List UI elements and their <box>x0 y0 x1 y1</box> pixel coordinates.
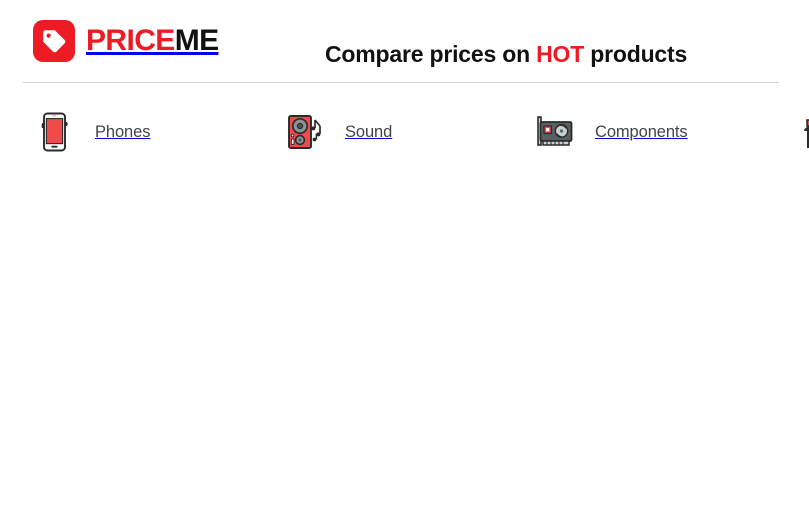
category-label: Phones <box>95 123 150 142</box>
category-label: Components <box>595 123 688 142</box>
page-title: Compare prices on HOT products <box>325 41 687 68</box>
header-divider <box>23 82 779 83</box>
page-header: PRICEME Compare prices on HOT products <box>0 0 809 82</box>
price-tag-icon <box>33 20 75 62</box>
brand-name-secondary: ME <box>175 24 219 57</box>
page-title-suffix: products <box>584 41 687 67</box>
category-item-components[interactable]: Components <box>533 104 798 160</box>
category-directory-page: PRICEME Compare prices on HOT products P… <box>0 0 809 515</box>
brand-name-primary: PRICE <box>86 24 175 57</box>
category-item-sound[interactable]: Sound <box>283 104 533 160</box>
category-label: Sound <box>345 123 392 142</box>
page-title-highlight: HOT <box>536 41 584 67</box>
category-grid: Phones <box>0 104 809 160</box>
graphics-card-icon <box>533 110 577 154</box>
house-plant-icon <box>798 110 809 154</box>
category-item-home-garden[interactable]: Home & Garden <box>798 104 809 160</box>
page-title-prefix: Compare prices on <box>325 41 536 67</box>
category-item-phones[interactable]: Phones <box>33 104 283 160</box>
speaker-icon <box>283 110 327 154</box>
brand-logo[interactable]: PRICEME <box>33 19 219 63</box>
brand-name: PRICEME <box>86 26 219 56</box>
smartphone-icon <box>33 110 77 154</box>
